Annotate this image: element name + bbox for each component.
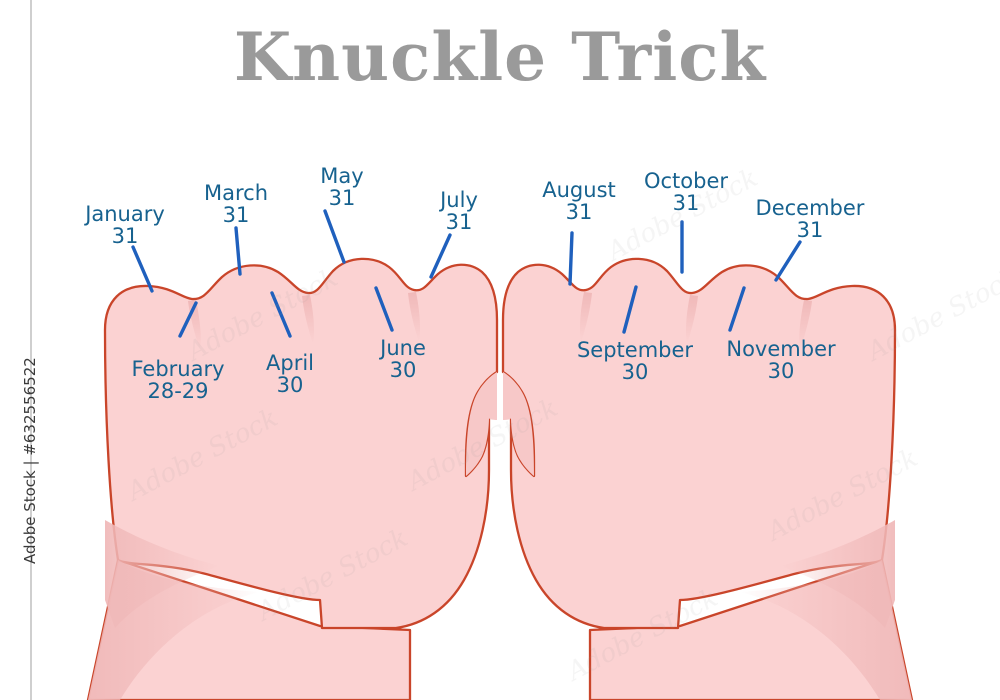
- label-august-month: August: [542, 179, 616, 201]
- left-fist: [88, 259, 497, 700]
- label-july-days: 31: [440, 211, 478, 233]
- hands-illustration: [0, 0, 1000, 700]
- label-february: February 28-29: [131, 358, 224, 403]
- label-september: September 30: [577, 339, 693, 384]
- label-may-month: May: [320, 165, 363, 187]
- label-december-days: 31: [756, 219, 865, 241]
- label-august-days: 31: [542, 201, 616, 223]
- page-title: Knuckle Trick: [0, 18, 1000, 96]
- label-january-month: January: [85, 203, 165, 225]
- label-october-days: 31: [644, 192, 728, 214]
- label-march-month: March: [204, 182, 268, 204]
- label-october-month: October: [644, 170, 728, 192]
- knuckle-trick-illustration: Knuckle Trick January 31 March 31 May 31…: [0, 0, 1000, 700]
- label-january: January 31: [85, 203, 165, 248]
- label-april: April 30: [266, 352, 314, 397]
- pointer-may: [325, 211, 344, 262]
- label-june-days: 30: [380, 359, 426, 381]
- label-june: June 30: [380, 337, 426, 382]
- label-may-days: 31: [320, 187, 363, 209]
- label-september-days: 30: [577, 361, 693, 383]
- label-april-days: 30: [266, 374, 314, 396]
- label-march: March 31: [204, 182, 268, 227]
- label-january-days: 31: [85, 225, 165, 247]
- label-november: November 30: [726, 338, 835, 383]
- label-november-month: November: [726, 338, 835, 360]
- pointer-august: [570, 233, 572, 284]
- pointer-december: [776, 242, 800, 280]
- label-june-month: June: [380, 337, 426, 359]
- watermark-credit: Adobe Stock | #632556522: [21, 314, 39, 564]
- pointer-january: [133, 247, 152, 291]
- label-july-month: July: [440, 189, 478, 211]
- label-february-month: February: [131, 358, 224, 380]
- label-february-days: 28-29: [131, 380, 224, 402]
- label-september-month: September: [577, 339, 693, 361]
- label-march-days: 31: [204, 204, 268, 226]
- right-fist: [503, 259, 912, 700]
- label-october: October 31: [644, 170, 728, 215]
- label-july: July 31: [440, 189, 478, 234]
- label-december-month: December: [756, 197, 865, 219]
- label-august: August 31: [542, 179, 616, 224]
- label-may: May 31: [320, 165, 363, 210]
- label-december: December 31: [756, 197, 865, 242]
- label-april-month: April: [266, 352, 314, 374]
- label-november-days: 30: [726, 360, 835, 382]
